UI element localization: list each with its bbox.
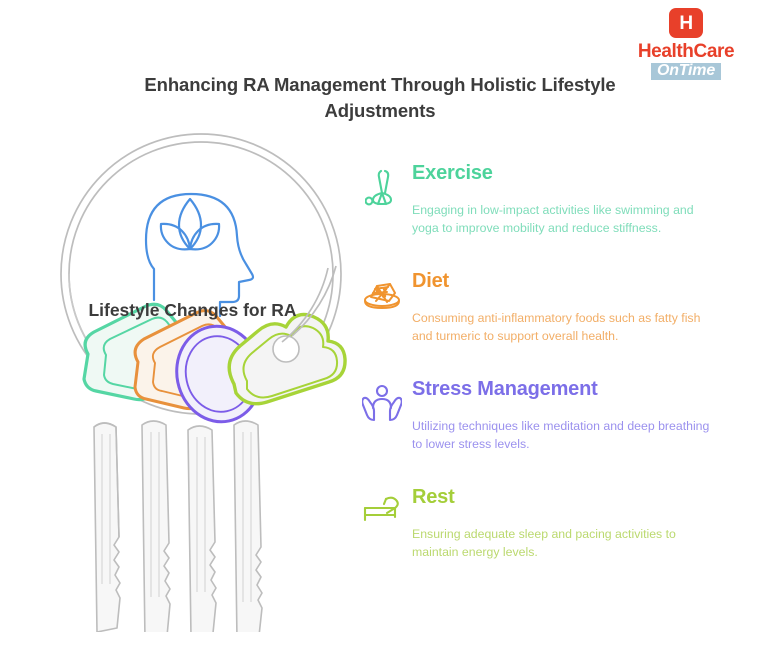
brand-name: HealthCare (628, 42, 744, 61)
key-head-lime (229, 315, 345, 404)
list-item: Rest Ensuring adequate sleep and pacing … (360, 486, 750, 582)
brand-logo: H HealthCare OnTime (628, 8, 744, 80)
lifestyle-items-list: Exercise Engaging in low-impact activiti… (360, 162, 750, 582)
infographic-page: H HealthCare OnTime Enhancing RA Managem… (0, 0, 758, 667)
item-title: Rest (412, 486, 750, 509)
keyring-illustration (34, 122, 364, 632)
page-title: Enhancing RA Management Through Holistic… (118, 72, 642, 125)
item-title: Stress Management (412, 378, 750, 401)
diet-plate-icon (360, 274, 404, 316)
list-item: Diet Consuming anti-inflammatory foods s… (360, 270, 750, 366)
item-description: Ensuring adequate sleep and pacing activ… (412, 525, 712, 562)
item-description: Consuming anti-inflammatory foods such a… (412, 309, 712, 346)
item-description: Utilizing techniques like meditation and… (412, 417, 712, 454)
list-item: Stress Management Utilizing techniques l… (360, 378, 750, 474)
item-title: Exercise (412, 162, 750, 185)
item-title: Diet (412, 270, 750, 293)
list-item: Exercise Engaging in low-impact activiti… (360, 162, 750, 258)
key-shafts (94, 421, 262, 632)
item-description: Engaging in low-impact activities like s… (412, 201, 712, 238)
brand-tagline: OnTime (651, 63, 721, 80)
brand-logo-mark: H (669, 8, 703, 38)
exercise-icon (360, 166, 404, 208)
stress-management-icon (360, 382, 404, 424)
center-label: Lifestyle Changes for RA (70, 298, 315, 323)
rest-bed-icon (360, 490, 404, 532)
brand-logo-letter: H (679, 14, 692, 33)
